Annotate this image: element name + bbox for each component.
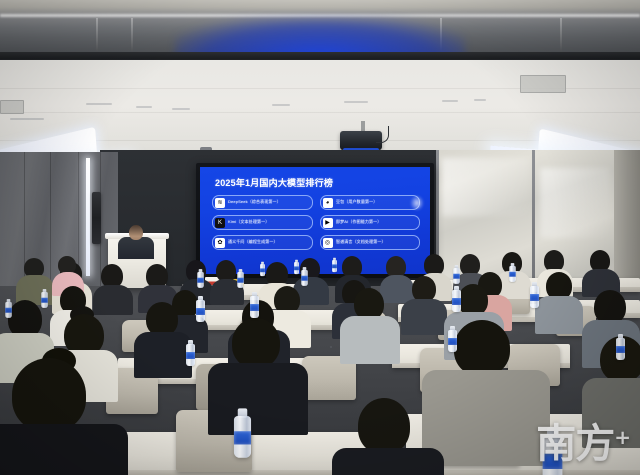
list-item: ≋ DeepSeek（综合表现第一） xyxy=(212,195,313,210)
list-item-label: Kimi（文本处理第一） xyxy=(228,220,269,226)
ceiling-slot xyxy=(86,103,112,105)
kimi-icon: K xyxy=(215,218,225,228)
list-item-label: 智谱清言（文档处理第一） xyxy=(336,240,386,246)
watermark-logo: 南方+ xyxy=(536,426,630,463)
ceiling-slot xyxy=(136,106,152,108)
glass-reflection xyxy=(442,158,530,216)
ceiling-slot xyxy=(474,99,486,101)
ceiling-slot xyxy=(344,101,368,103)
ceiling-vent xyxy=(520,75,566,93)
slide-title: 2025年1月国内大模型排行榜 xyxy=(215,176,333,189)
zhipu-qingyan-icon: ◎ xyxy=(323,238,333,248)
list-item: ◕ 豆包（用户数量第一） xyxy=(320,195,421,210)
ceiling-slot xyxy=(272,104,290,106)
watermark-plus: + xyxy=(614,428,630,446)
list-item-label: 通义千问（编程生成第一） xyxy=(228,240,278,246)
wall-panel-seam xyxy=(50,152,51,287)
conference-room-screenshot: 2025年1月国内大模型排行榜 ≋ DeepSeek（综合表现第一） ◕ 豆包（… xyxy=(0,0,640,475)
list-item-label: DeepSeek（综合表现第一） xyxy=(228,200,281,206)
watermark-text: 南方 xyxy=(536,426,614,463)
ceiling-slot xyxy=(172,108,190,110)
wall-led-strip xyxy=(86,158,90,276)
list-item: ◎ 智谱清言（文档处理第一） xyxy=(320,235,421,250)
screen-glare xyxy=(410,195,424,211)
ceiling-panel-line xyxy=(0,112,640,113)
doubao-icon: ◕ xyxy=(323,198,333,208)
list-item: ✿ 通义千问（编程生成第一） xyxy=(212,235,313,250)
list-item: K Kimi（文本处理第一） xyxy=(212,215,313,230)
glass-reflection xyxy=(540,168,610,238)
presenter-head xyxy=(129,225,143,240)
wall-speaker xyxy=(92,192,101,244)
deepseek-whale-icon: ≋ xyxy=(215,198,225,208)
list-item: ▶ 即梦AI（作图能力第一） xyxy=(320,215,421,230)
presenter-body xyxy=(118,237,154,259)
tongyi-qianwen-icon: ✿ xyxy=(215,238,225,248)
list-item-label: 即梦AI（作图能力第一） xyxy=(336,220,381,226)
ceiling-vent xyxy=(0,100,24,114)
jimeng-ai-icon: ▶ xyxy=(323,218,333,228)
slide-ranking-list: ≋ DeepSeek（综合表现第一） ◕ 豆包（用户数量第一） K Kimi（文… xyxy=(212,195,420,250)
carpet-texture xyxy=(330,346,332,348)
ceiling-slot xyxy=(10,118,44,120)
list-item-label: 豆包（用户数量第一） xyxy=(336,200,377,206)
ceiling-slot xyxy=(442,100,458,102)
